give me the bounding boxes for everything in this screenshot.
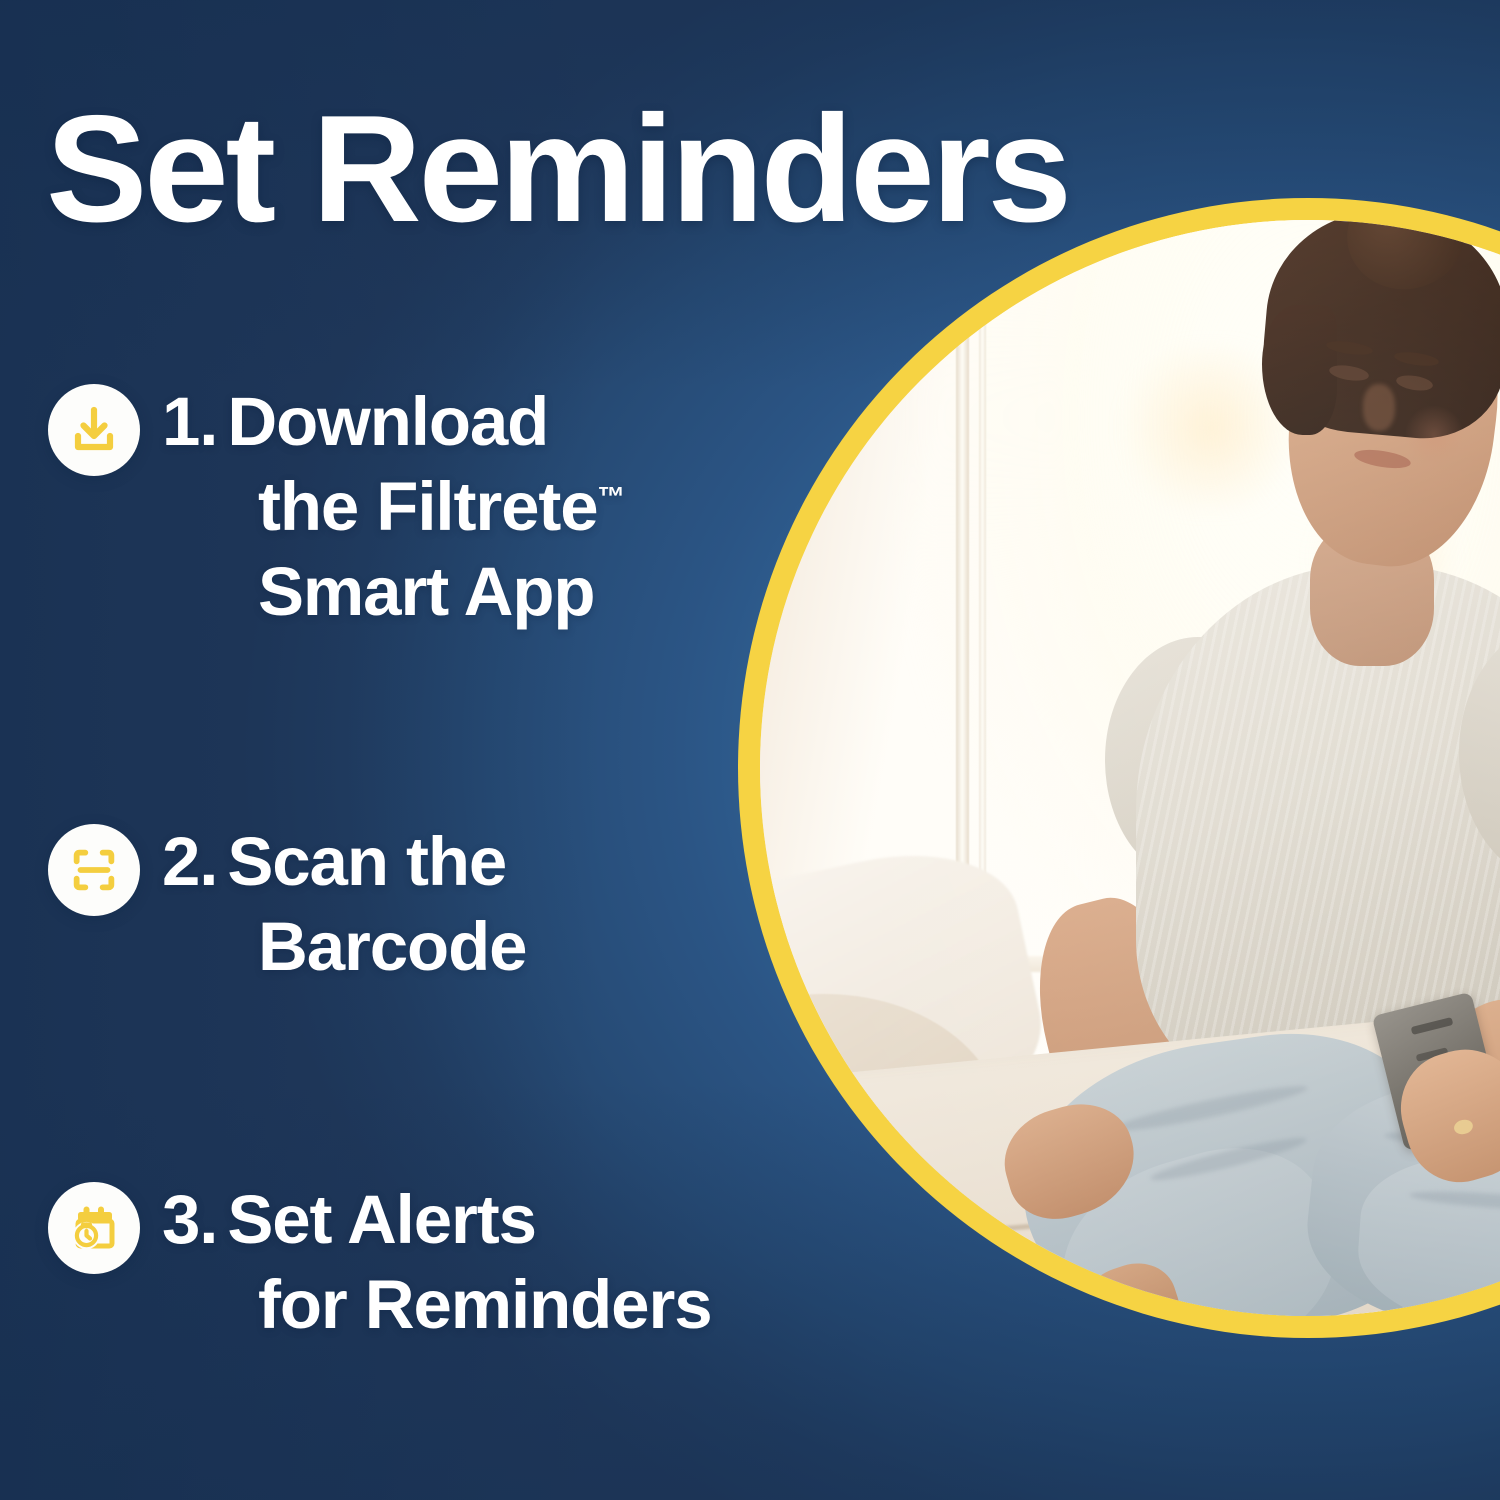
step-item-3: 3.Set Alerts for Reminders: [48, 1176, 711, 1348]
step-2-line1: Scan the: [227, 823, 506, 900]
step-2-text: 2.Scan the Barcode: [162, 818, 526, 990]
step-1-line1: Download: [227, 383, 548, 460]
step-3-text: 3.Set Alerts for Reminders: [162, 1176, 711, 1348]
step-1-number: 1.: [162, 383, 217, 460]
step-item-2: 2.Scan the Barcode: [48, 818, 526, 990]
step-2-line2: Barcode: [258, 908, 526, 985]
barcode-scan-icon: [48, 824, 140, 916]
step-item-1: 1.Download the Filtrete™ Smart App: [48, 378, 625, 635]
download-icon: [48, 384, 140, 476]
step-1-line2: the Filtrete: [258, 468, 598, 545]
step-3-line1: Set Alerts: [227, 1181, 536, 1258]
step-2-number: 2.: [162, 823, 217, 900]
step-3-number: 3.: [162, 1181, 217, 1258]
step-1-text: 1.Download the Filtrete™ Smart App: [162, 378, 625, 635]
step-3-line2: for Reminders: [258, 1266, 711, 1343]
trademark-symbol: ™: [598, 481, 626, 512]
step-1-line3: Smart App: [258, 553, 594, 630]
calendar-timer-icon: [48, 1182, 140, 1274]
page-title: Set Reminders: [46, 92, 1069, 247]
